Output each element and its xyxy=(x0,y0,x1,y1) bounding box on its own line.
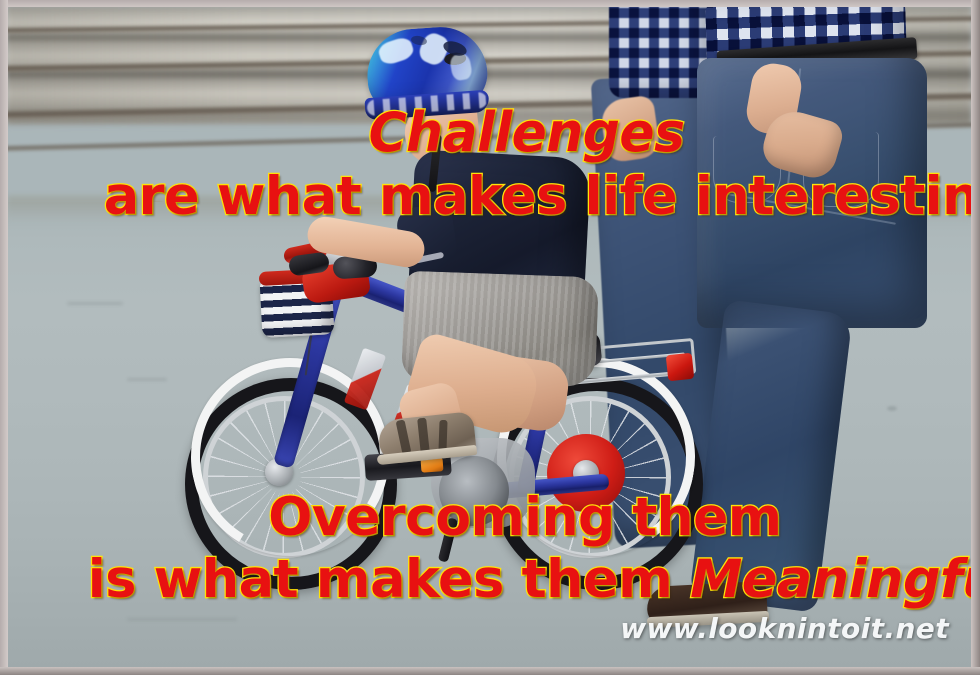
frame-edge-bottom xyxy=(0,667,980,675)
photo-canvas: Challenges are what makes life interesti… xyxy=(7,6,971,667)
rear-reflector xyxy=(666,353,695,382)
road-marking xyxy=(127,378,167,381)
site-watermark: www.looknintoit.net xyxy=(620,612,949,645)
road-marking xyxy=(827,566,917,569)
quote-poster: Challenges are what makes life interesti… xyxy=(0,0,980,675)
adult-left-hand xyxy=(599,95,661,164)
road-marking xyxy=(127,618,237,621)
road-marking xyxy=(67,302,123,305)
road-speck xyxy=(887,406,897,411)
frame-edge-right xyxy=(971,0,980,675)
frame-edge-top xyxy=(0,0,980,7)
adult-jeans xyxy=(697,58,927,328)
frame-edge-left xyxy=(0,0,8,675)
